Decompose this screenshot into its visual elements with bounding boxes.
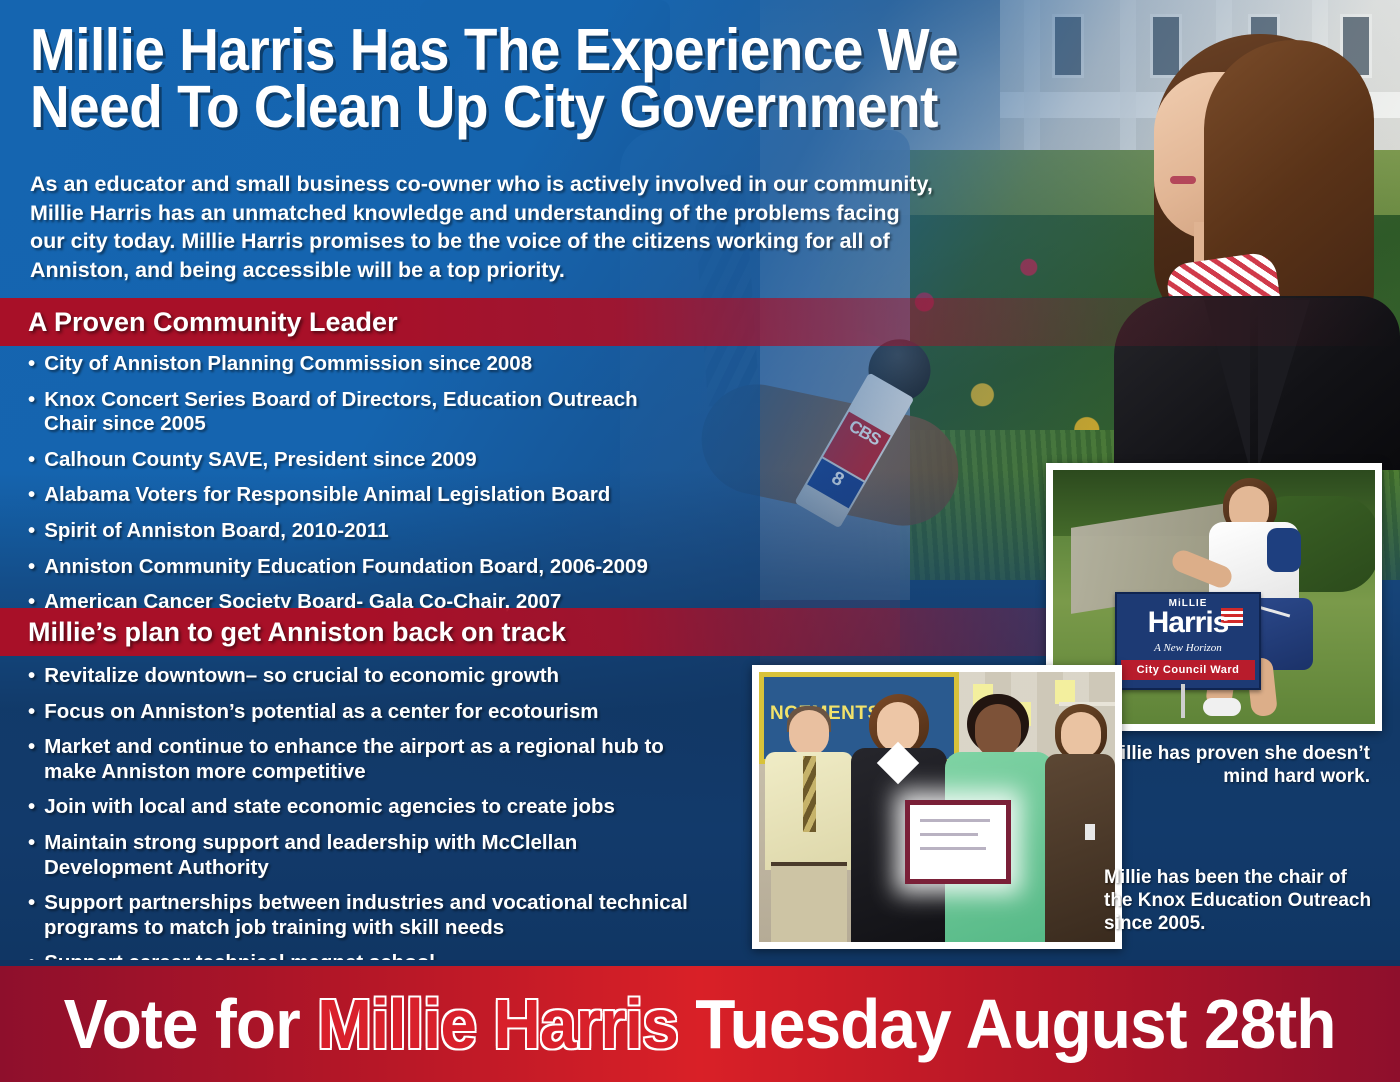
list-item: Support partnerships between industries … [28,891,708,940]
list-item: Focus on Anniston’s potential as a cente… [28,700,708,725]
section-title: Millie’s plan to get Anniston back on tr… [0,617,566,648]
page-title: Millie Harris Has The Experience We Need… [30,22,960,135]
candidate-name: Millie Harris [318,985,679,1063]
list-item: Maintain strong support and leadership w… [28,831,708,880]
yard-sign-stake [1181,684,1185,718]
list-item: Join with local and state economic agenc… [28,795,708,820]
list-item: Alabama Voters for Responsible Animal Le… [28,483,688,508]
vote-prefix: Vote for [64,985,318,1063]
campaign-yard-sign: MiLLIE Harris A New Horizon City Council… [1115,592,1261,690]
list-item: Spirit of Anniston Board, 2010-2011 [28,519,688,544]
list-item: Revitalize downtown– so crucial to econo… [28,664,708,689]
intro-paragraph: As an educator and small business co-own… [30,170,940,284]
award-certificate [905,800,1011,884]
caption-classroom: Millie has been the chair of the Knox Ed… [1104,866,1374,936]
campaign-flyer: CBS 8 Millie Harris Has The Experience W… [0,0,1400,1082]
leader-credentials-list: City of Anniston Planning Commission sin… [28,352,688,626]
list-item: Market and continue to enhance the airpo… [28,735,708,784]
sign-office: City Council Ward [1121,660,1255,680]
photo-classroom-award: NCEMENTS [752,665,1122,949]
vote-banner-text: Vote for Millie Harris Tuesday August 28… [64,984,1336,1064]
classroom-person-1 [765,710,853,942]
list-item: Anniston Community Education Foundation … [28,555,688,580]
list-item: Calhoun County SAVE, President since 200… [28,448,688,473]
section-header-leader: A Proven Community Leader [0,298,1400,346]
sign-slogan: A New Horizon [1117,642,1259,654]
list-item: City of Anniston Planning Commission sin… [28,352,688,377]
vote-date: Tuesday August 28th [678,985,1336,1063]
plan-list: Revitalize downtown– so crucial to econo… [28,664,708,987]
list-item: Knox Concert Series Board of Directors, … [28,388,688,437]
vote-banner: Vote for Millie Harris Tuesday August 28… [0,966,1400,1082]
sign-last-name: Harris [1117,608,1259,638]
section-title: A Proven Community Leader [0,307,398,338]
candidate-portrait [1108,0,1400,470]
portrait-lips [1170,176,1196,184]
